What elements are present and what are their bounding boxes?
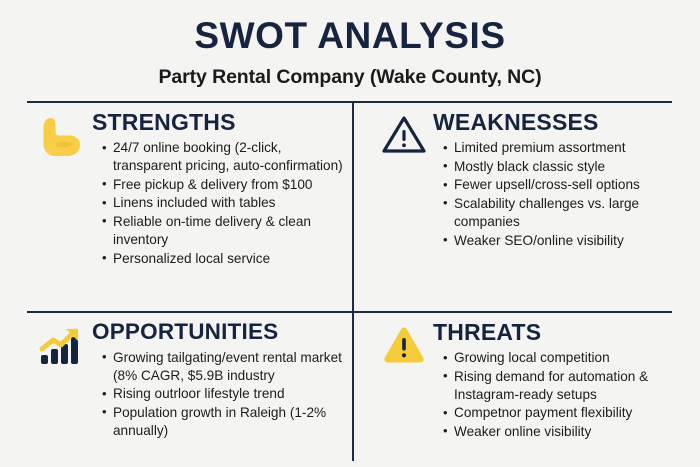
strengths-bullet-list: 24/7 online booking (2-click, transparen… bbox=[92, 139, 350, 268]
threats-title: THREATS bbox=[433, 320, 685, 344]
threats-content: THREATS Growing local competition Rising… bbox=[433, 320, 685, 442]
list-item: Limited premium assortment bbox=[443, 139, 685, 157]
opportunities-content: OPPORTUNITIES Growing tailgating/event r… bbox=[92, 320, 350, 441]
warning-triangle-filled-icon bbox=[375, 320, 433, 442]
page-title: SWOT ANALYSIS bbox=[0, 0, 700, 54]
strengths-title: STRENGTHS bbox=[92, 110, 350, 134]
quadrant-weaknesses: WEAKNESSES Limited premium assortment Mo… bbox=[375, 110, 685, 250]
warning-triangle-outline-icon bbox=[375, 110, 433, 250]
list-item: Mostly black classic style bbox=[443, 158, 685, 176]
growth-bar-chart-icon bbox=[30, 320, 92, 441]
divider-horizontal-top bbox=[27, 101, 672, 103]
list-item: Linens included with tables bbox=[102, 194, 350, 212]
opportunities-title: OPPORTUNITIES bbox=[92, 320, 350, 344]
list-item: Population growth in Raleigh (1-2% annua… bbox=[102, 404, 350, 440]
list-item: Weaker SEO/online visibility bbox=[443, 232, 685, 250]
list-item: Competnor payment flexibility bbox=[443, 404, 685, 422]
list-item: Scalability challenges vs. large compani… bbox=[443, 195, 685, 231]
list-item: 24/7 online booking (2-click, transparen… bbox=[102, 139, 350, 175]
list-item: Growing tailgating/event rental market (… bbox=[102, 349, 350, 385]
threats-bullet-list: Growing local competition Rising demand … bbox=[433, 349, 685, 441]
weaknesses-title: WEAKNESSES bbox=[433, 110, 685, 134]
weaknesses-bullet-list: Limited premium assortment Mostly black … bbox=[433, 139, 685, 249]
divider-horizontal-middle bbox=[27, 311, 672, 313]
weaknesses-content: WEAKNESSES Limited premium assortment Mo… bbox=[433, 110, 685, 250]
strengths-content: STRENGTHS 24/7 online booking (2-click, … bbox=[92, 110, 350, 268]
list-item: Personalized local service bbox=[102, 250, 350, 268]
page-subtitle: Party Rental Company (Wake County, NC) bbox=[0, 54, 700, 88]
quadrant-strengths: STRENGTHS 24/7 online booking (2-click, … bbox=[30, 110, 350, 268]
list-item: Growing local competition bbox=[443, 349, 685, 367]
list-item: Fewer upsell/cross-sell options bbox=[443, 176, 685, 194]
list-item: Rising outrloor lifestyle trend bbox=[102, 385, 350, 403]
quadrant-threats: THREATS Growing local competition Rising… bbox=[375, 320, 685, 442]
list-item: Weaker online visibility bbox=[443, 423, 685, 441]
list-item: Free pickup & delivery from $100 bbox=[102, 176, 350, 194]
opportunities-bullet-list: Growing tailgating/event rental market (… bbox=[92, 349, 350, 440]
header: SWOT ANALYSIS Party Rental Company (Wake… bbox=[0, 0, 700, 88]
quadrant-opportunities: OPPORTUNITIES Growing tailgating/event r… bbox=[30, 320, 350, 441]
swot-infographic: SWOT ANALYSIS Party Rental Company (Wake… bbox=[0, 0, 700, 467]
list-item: Reliable on-time delivery & clean invent… bbox=[102, 213, 350, 249]
list-item: Rising demand for automation & Instagram… bbox=[443, 368, 685, 404]
divider-vertical bbox=[352, 101, 354, 461]
flexed-bicep-icon bbox=[30, 110, 92, 268]
